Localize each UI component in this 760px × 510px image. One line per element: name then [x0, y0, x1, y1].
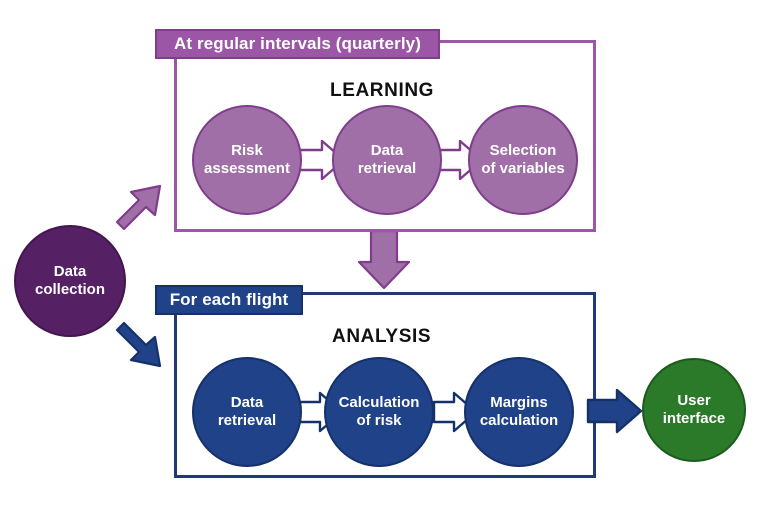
node-analysis-data-retrieval: Data retrieval	[192, 357, 302, 467]
node-analysis-data-retrieval-line1: Data	[212, 394, 282, 412]
node-calculation-of-risk-line1: Calculation	[333, 394, 426, 412]
tag-at-regular-intervals: At regular intervals (quarterly)	[155, 29, 440, 59]
node-learning-data-retrieval-line2: retrieval	[352, 160, 422, 178]
node-user-interface-line2: interface	[657, 410, 732, 428]
node-analysis-data-retrieval-line2: retrieval	[212, 412, 282, 430]
tag-for-each-flight: For each flight	[155, 285, 303, 315]
node-learning-data-retrieval: Data retrieval	[332, 105, 442, 215]
node-user-interface: User interface	[642, 358, 746, 462]
node-selection-of-variables: Selection of variables	[468, 105, 578, 215]
node-risk-assessment-line1: Risk	[198, 142, 296, 160]
arrow-margins-calculation-to-user-interface	[588, 390, 641, 432]
node-calculation-of-risk: Calculation of risk	[324, 357, 434, 467]
node-risk-assessment-line2: assessment	[198, 160, 296, 178]
node-risk-assessment: Risk assessment	[192, 105, 302, 215]
node-data-collection-line1: Data	[29, 263, 111, 281]
node-data-collection-line2: collection	[29, 281, 111, 299]
node-data-collection: Data collection	[14, 225, 126, 337]
diagram-canvas: At regular intervals (quarterly) For eac…	[0, 0, 760, 510]
node-selection-of-variables-line1: Selection	[475, 142, 570, 160]
node-learning-data-retrieval-line1: Data	[352, 142, 422, 160]
section-title-analysis: ANALYSIS	[332, 326, 431, 348]
section-title-learning: LEARNING	[330, 80, 434, 102]
node-margins-calculation-line1: Margins	[474, 394, 564, 412]
node-calculation-of-risk-line2: of risk	[333, 412, 426, 430]
node-margins-calculation: Margins calculation	[464, 357, 574, 467]
node-margins-calculation-line2: calculation	[474, 412, 564, 430]
node-selection-of-variables-line2: of variables	[475, 160, 570, 178]
node-user-interface-line1: User	[657, 392, 732, 410]
